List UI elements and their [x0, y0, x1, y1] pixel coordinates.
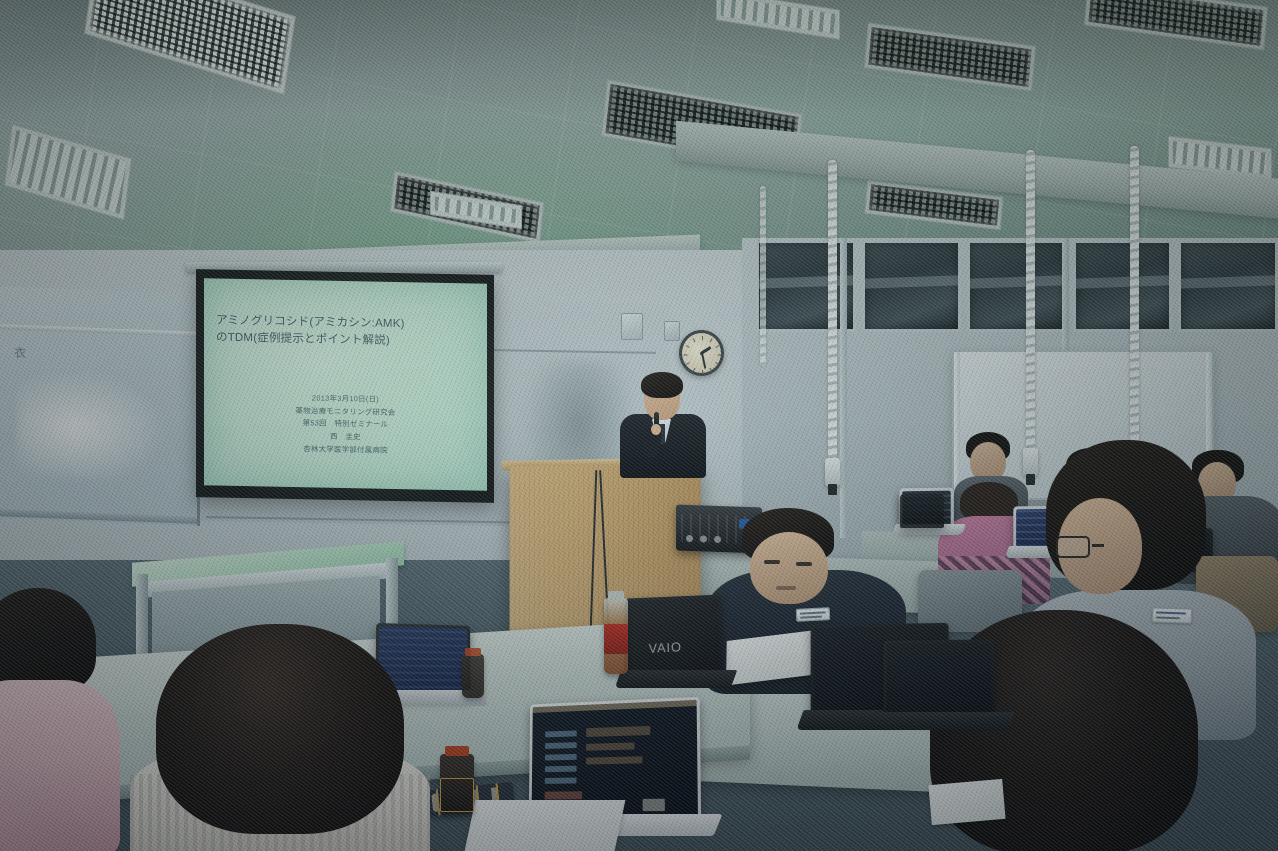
- name-badge: [796, 607, 831, 622]
- tea-bottle[interactable]: [604, 598, 628, 674]
- transom-window: [1073, 240, 1173, 332]
- ceiling-power-cord: [1130, 146, 1139, 442]
- slide-subtitle-block: 2013年3月10日(日) 薬物治療モニタリング研究会 第53回 特別ゼミナール…: [204, 390, 487, 459]
- drink-bottle[interactable]: [440, 754, 474, 814]
- laptop-dark-foreground[interactable]: [882, 640, 1002, 738]
- eyeglasses: [1056, 536, 1090, 558]
- vaio-brand-label: VAIO: [649, 639, 683, 656]
- projected-slide: アミノグリコシド(アミカシン:AMK) のTDM(症例提示とポイント解説) 20…: [204, 278, 487, 490]
- power-outlet-box[interactable]: [825, 458, 840, 486]
- seminar-room-photo: 衣 アミノグリコシド(アミカシン:AMK) のTDM(症例提示とポイント解説) …: [0, 0, 1278, 851]
- whiteboard-marking: 衣: [14, 344, 26, 361]
- slide-title: アミノグリコシド(アミカシン:AMK) のTDM(症例提示とポイント解説): [216, 313, 479, 353]
- whiteboard-left: 衣: [0, 286, 200, 526]
- transom-window: [1178, 240, 1278, 332]
- printed-handout[interactable]: [465, 800, 626, 851]
- wall-clock: [679, 330, 724, 376]
- presenter: [614, 372, 710, 476]
- partition-mullion: [840, 238, 847, 538]
- wall-speaker: [621, 313, 643, 340]
- handout-papers[interactable]: [928, 779, 1005, 825]
- laptop-vaio[interactable]: VAIO: [622, 596, 742, 692]
- attendee-dark-hair-left: [0, 588, 100, 851]
- ceiling-power-cord: [760, 186, 766, 366]
- ceiling-power-cord: [828, 160, 837, 460]
- transom-window: [862, 240, 962, 332]
- small-bottle[interactable]: [462, 654, 484, 698]
- attendee-white-knit: [150, 624, 420, 851]
- ceiling-power-cord: [1026, 150, 1035, 450]
- projection-screen: アミノグリコシド(アミカシン:AMK) のTDM(症例提示とポイント解説) 20…: [196, 269, 494, 503]
- laptop-dark-back[interactable]: [900, 494, 946, 536]
- transom-window: [967, 240, 1067, 332]
- wall-control-box: [664, 321, 680, 341]
